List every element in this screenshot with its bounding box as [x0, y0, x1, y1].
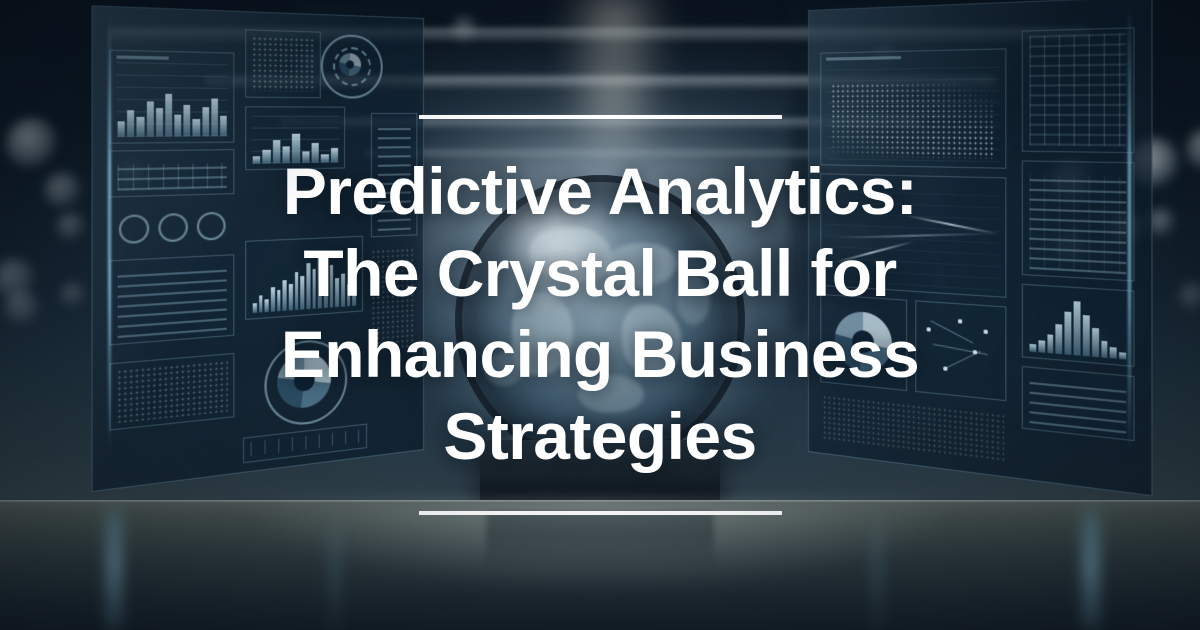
hero-banner: Predictive Analytics: The Crystal Ball f… [0, 0, 1200, 630]
title-block: Predictive Analytics: The Crystal Ball f… [0, 0, 1200, 630]
divider-bottom [419, 511, 782, 515]
page-title: Predictive Analytics: The Crystal Ball f… [281, 151, 919, 477]
divider-top [419, 115, 782, 119]
